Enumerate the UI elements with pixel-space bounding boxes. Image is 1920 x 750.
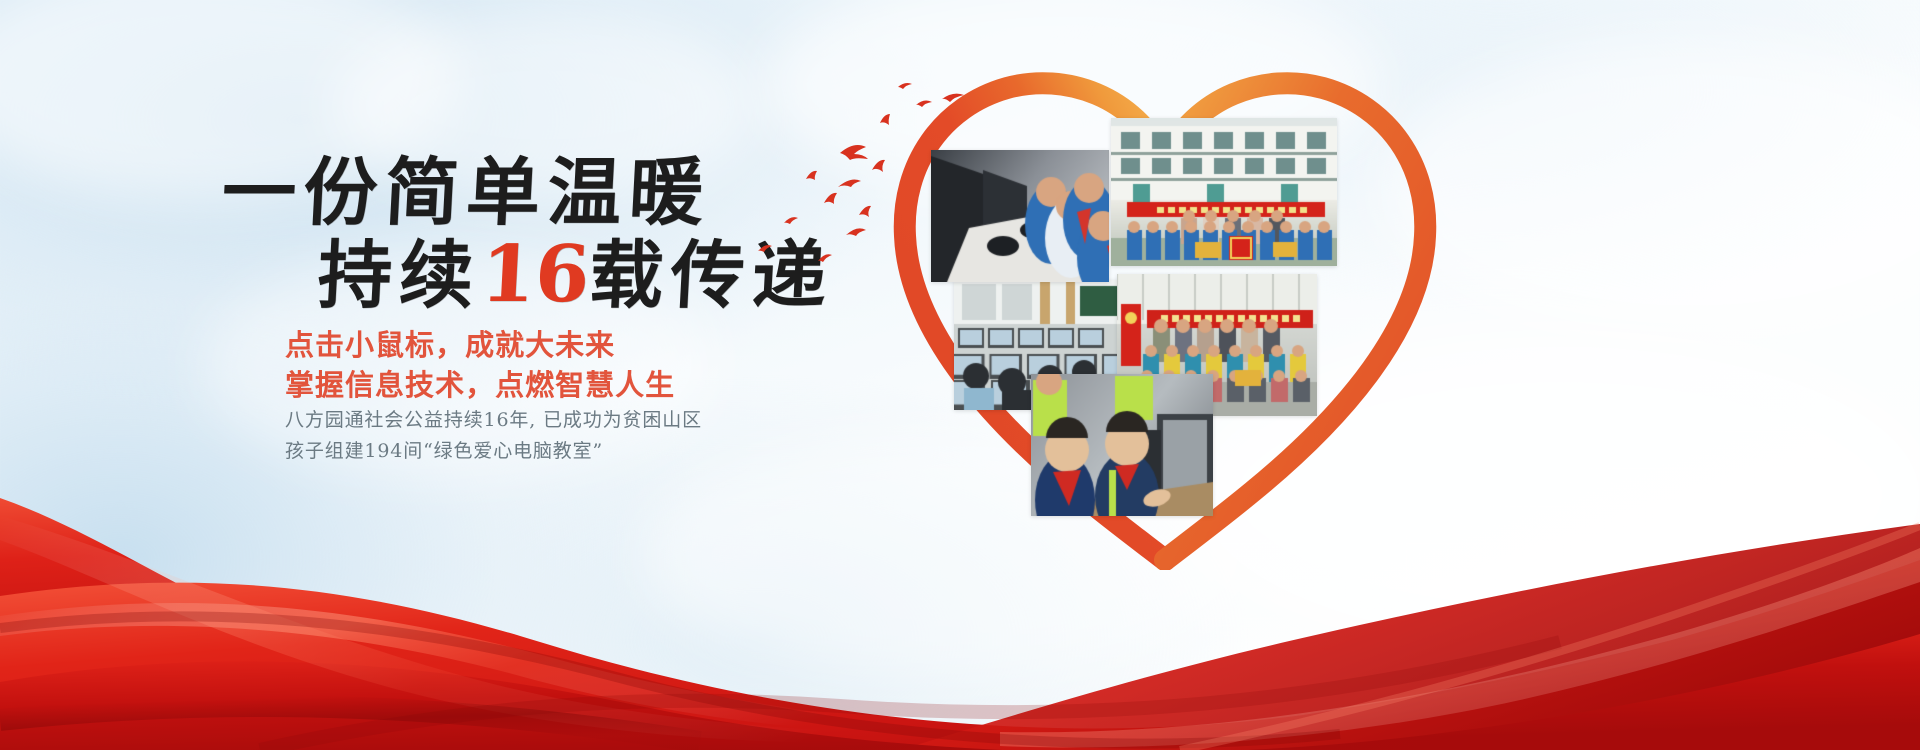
subhead: 点击小鼠标，成就大未来 掌握信息技术，点燃智慧人生 xyxy=(285,325,675,405)
headline-line-2: 持续16载传递 xyxy=(0,232,802,319)
headline-line-1: 一份简单温暖 xyxy=(0,150,802,236)
photo-boys-at-computer-smiling[interactable] xyxy=(1031,374,1213,516)
photo-school-donation-ceremony-blue-uniforms[interactable] xyxy=(1111,118,1337,266)
subhead-line-2: 掌握信息技术，点燃智慧人生 xyxy=(285,365,675,405)
red-silk-ribbon-wave xyxy=(0,420,1920,750)
subhead-line-1: 点击小鼠标，成就大未来 xyxy=(285,325,675,365)
headline-line-2-prefix: 持续 xyxy=(316,233,483,319)
headline-years-number: 16 xyxy=(478,229,591,320)
headline: 一份简单温暖 持续16载传递 xyxy=(0,150,800,319)
photo-computer-lab-students-mice[interactable] xyxy=(931,150,1109,282)
